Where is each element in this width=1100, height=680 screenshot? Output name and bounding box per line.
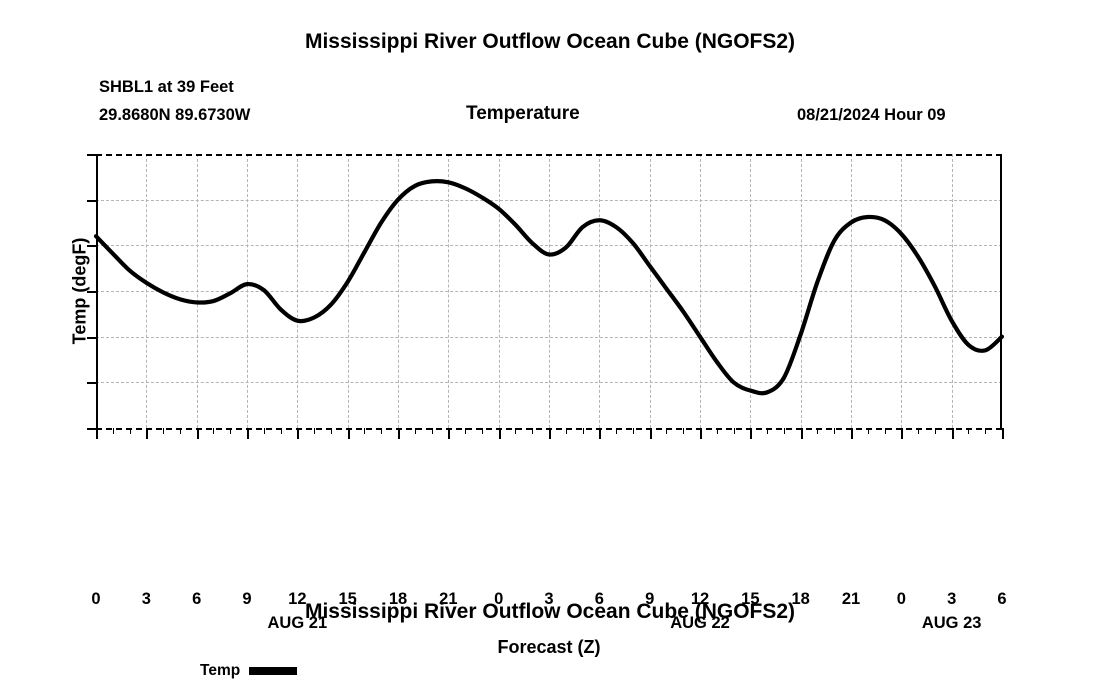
chart-plot-area: Temp (degF) Forecast (Z) 93.0092.0091.00… [96,154,1002,428]
page-title-top: Mississippi River Outflow Ocean Cube (NG… [0,30,1100,54]
page-title-bottom: Mississippi River Outflow Ocean Cube (NG… [0,600,1100,624]
legend-label-temp: Temp [200,662,240,680]
x-axis-label: Forecast (Z) [96,637,1002,658]
parameter-title: Temperature [466,103,580,125]
coordinates-label: 29.8680N 89.6730W [99,106,250,125]
legend-swatch-temp [249,667,297,675]
temp-series-line [96,181,1002,393]
x-axis-tick [1002,428,1004,439]
forecast-cycle-label: 08/21/2024 Hour 09 [797,106,946,125]
axis-bottom [96,428,1002,430]
series-layer [96,154,1002,428]
chart-legend: Temp [200,662,297,680]
station-label: SHBL1 at 39 Feet [99,78,234,97]
